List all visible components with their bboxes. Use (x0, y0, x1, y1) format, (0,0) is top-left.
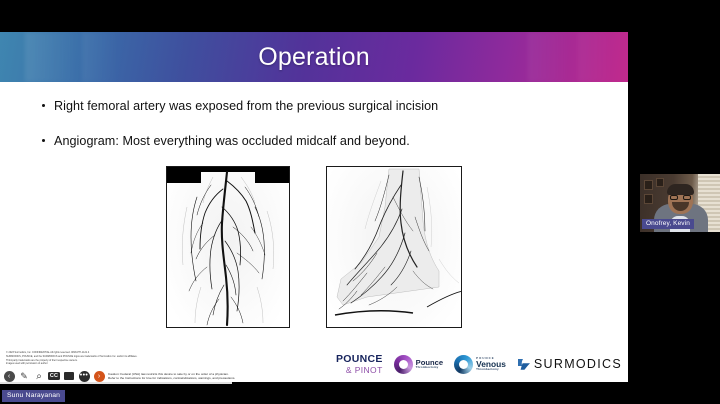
foot-angiogram-figure (326, 166, 462, 328)
figure-group (0, 166, 628, 328)
venous-swirl-icon (454, 355, 473, 374)
zoom-search-button[interactable]: ⌕ (33, 370, 45, 382)
foot-vessel-tracing (327, 167, 462, 328)
slide-header-banner: Operation (0, 32, 628, 82)
venous-logo-text: POUNCE Venous Thrombectomy (476, 357, 506, 371)
disclaimer-line: Images used with permission of author (6, 362, 214, 366)
participant-name-label: Onofrey, Kevin (642, 219, 694, 230)
player-toolbar[interactable]: ‹ ✎ ⌕ CC ••• › Caution: Federal (USA) la… (0, 368, 232, 384)
pounce-and-pinot-logo: POUNCE & PINOT (336, 354, 383, 374)
video-toggle-button[interactable] (63, 370, 75, 382)
legal-disclaimer: © 2023 Surmodics, Inc. CONFIDENTIAL All … (6, 351, 214, 366)
venous-sub: Thrombectomy (476, 368, 506, 371)
annotate-pen-button[interactable]: ✎ (18, 370, 30, 382)
toolbar-note: Caution: Federal (USA) law restricts thi… (108, 372, 235, 380)
closed-captions-button[interactable]: CC (48, 370, 60, 382)
surmodics-mark-icon (517, 358, 531, 371)
back-arrow-icon: ‹ (4, 371, 15, 382)
presentation-slide: Operation Right femoral artery was expos… (0, 32, 628, 382)
wall-picture-frame (656, 178, 664, 187)
person-hair (667, 184, 694, 195)
more-options-button[interactable]: ••• (78, 370, 90, 382)
leg-vessel-tracing (167, 167, 290, 328)
more-icon: ••• (79, 371, 90, 382)
cc-icon: CC (48, 372, 60, 380)
previous-slide-button[interactable]: ‹ (3, 370, 15, 382)
pounce-thrombectomy-logo: Pounce Thrombectomy (394, 355, 443, 374)
next-slide-button[interactable]: › (93, 370, 105, 382)
eyeglasses-icon (670, 195, 691, 200)
leg-angiogram-image (166, 166, 290, 328)
pounce-sub: Thrombectomy (416, 366, 443, 369)
bullet-item: Angiogram: Most everything was occluded … (40, 133, 592, 150)
toolbar-note-line2: Refer to the Instructions for Use for in… (108, 376, 235, 380)
bullet-item: Right femoral artery was exposed from th… (40, 98, 592, 115)
slide-title: Operation (0, 32, 628, 82)
pounce-logo-text: Pounce Thrombectomy (416, 359, 443, 370)
foot-angiogram-image (326, 166, 462, 328)
pounce-venous-logo: POUNCE Venous Thrombectomy (454, 355, 506, 374)
surmodics-logo: SURMODICS (517, 357, 622, 371)
webinar-viewport: Operation Right femoral artery was expos… (0, 0, 720, 404)
pen-icon: ✎ (20, 371, 28, 382)
logo-row: POUNCE & PINOT Pounce Thrombectomy (336, 354, 622, 374)
surmodics-wordmark: SURMODICS (534, 357, 622, 371)
pinot-logo-line1: POUNCE (336, 354, 383, 365)
slide-body: Right femoral artery was exposed from th… (0, 82, 628, 382)
participant-video-tile[interactable]: Onofrey, Kevin (640, 174, 720, 232)
search-icon: ⌕ (36, 371, 42, 382)
bullet-list: Right femoral artery was exposed from th… (0, 98, 628, 150)
camera-icon (64, 372, 74, 380)
leg-angiogram-figure (166, 166, 290, 328)
pounce-swirl-icon (394, 355, 413, 374)
wall-picture-frame (644, 194, 653, 204)
presenter-name-badge: Sunu Narayanan (2, 390, 65, 402)
pinot-logo-line2: & PINOT (346, 366, 383, 375)
forward-arrow-icon: › (94, 371, 105, 382)
wall-picture-frame (644, 180, 653, 190)
